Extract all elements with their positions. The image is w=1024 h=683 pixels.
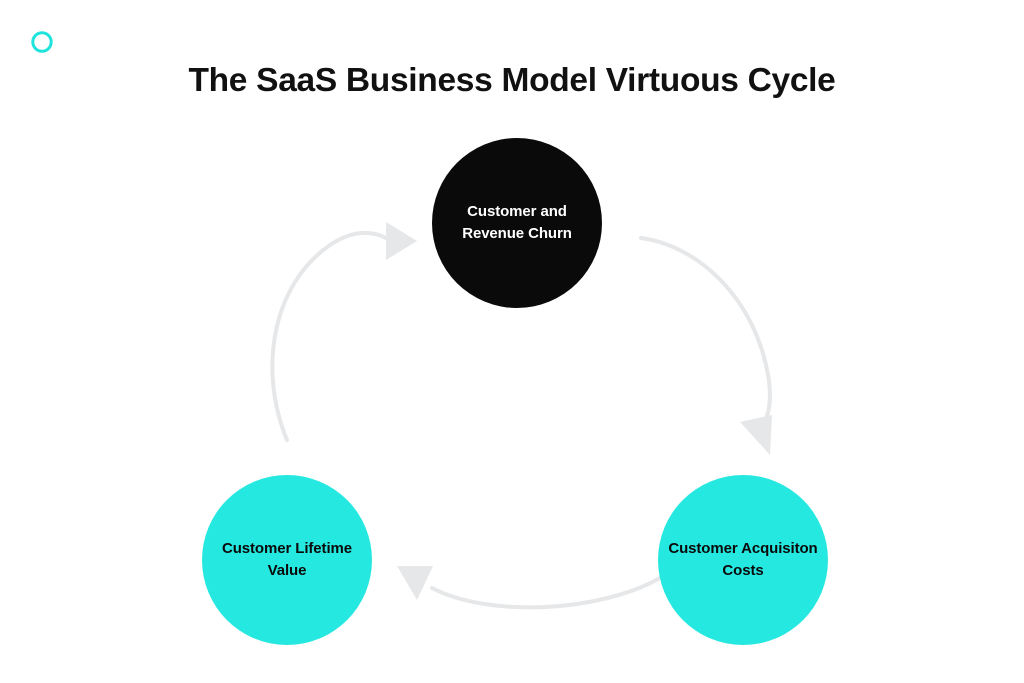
cycle-diagram: Customer and Revenue Churn Customer Life… — [0, 0, 1024, 683]
arrow-clv-to-churn — [272, 222, 417, 440]
slide-canvas: The SaaS Business Model Virtuous Cycle C… — [0, 0, 1024, 683]
cycle-node-clv-label: Customer Lifetime Value — [202, 538, 372, 582]
arrow-churn-to-cac — [641, 238, 772, 455]
cycle-node-churn[interactable]: Customer and Revenue Churn — [432, 138, 602, 308]
cycle-node-cac[interactable]: Customer Acquisiton Costs — [658, 475, 828, 645]
arrow-cac-to-clv — [397, 566, 660, 607]
cycle-node-clv[interactable]: Customer Lifetime Value — [202, 475, 372, 645]
cycle-node-churn-label: Customer and Revenue Churn — [432, 201, 602, 245]
cycle-node-cac-label: Customer Acquisiton Costs — [658, 538, 828, 582]
cycle-arrow-layer — [0, 0, 1024, 683]
